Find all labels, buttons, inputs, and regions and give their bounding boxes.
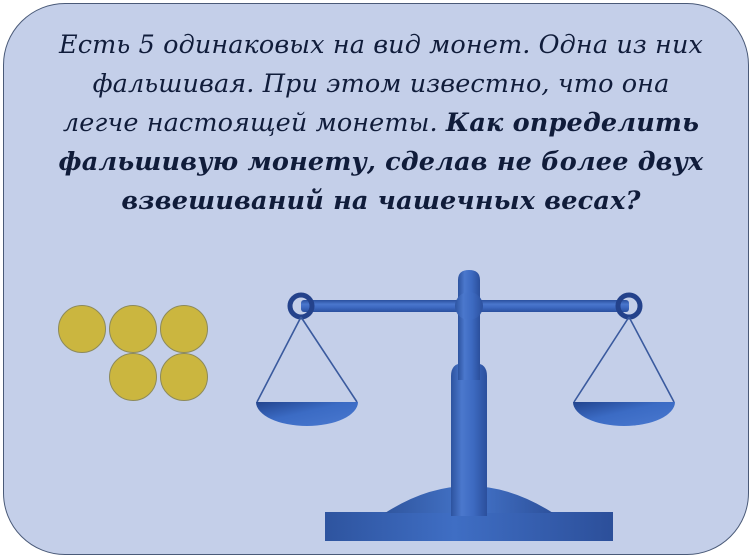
scale-pivot-center [455, 292, 483, 320]
scale-column-upper [458, 270, 480, 380]
scale-right-string-b [629, 317, 674, 402]
scale-left-pan [256, 402, 358, 426]
scale-right-string-a [574, 317, 629, 402]
riddle-card: Есть 5 одинаковых на вид монет. Одна из … [3, 3, 749, 555]
scale-right-pan [573, 402, 675, 426]
balance-scale [4, 4, 749, 555]
scale-left-string-a [257, 317, 301, 402]
scale-column-lower [451, 363, 487, 516]
scale-left-string-b [301, 317, 357, 402]
scale-base-slab [325, 512, 613, 541]
